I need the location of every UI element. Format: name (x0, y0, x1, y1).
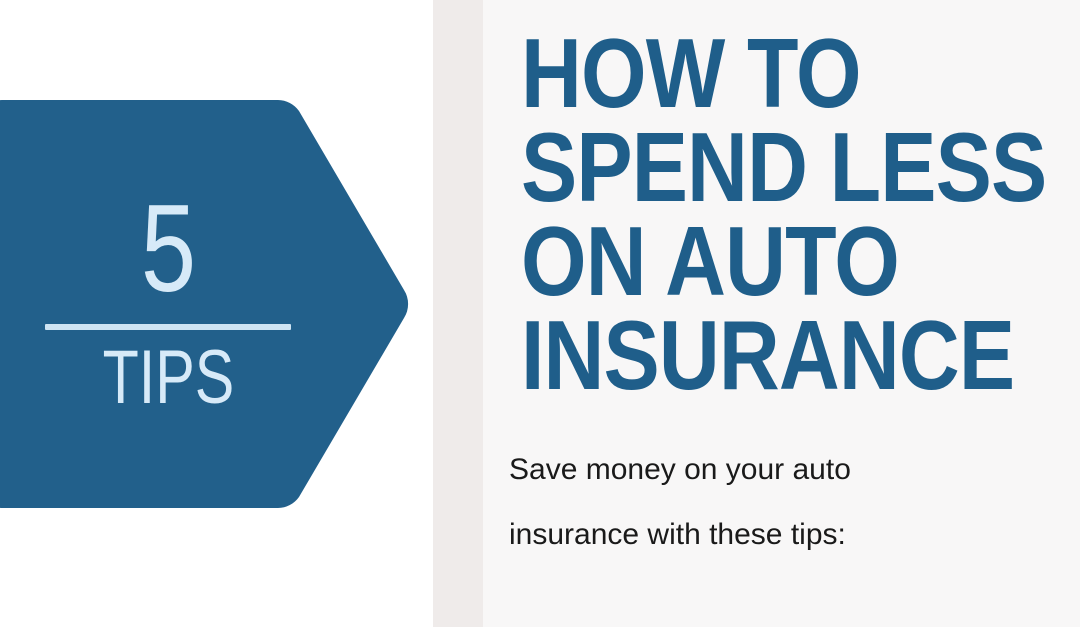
infographic-canvas: 5 TIPS HOW TO SPEND LESS ON AUTO INSURAN… (0, 0, 1080, 627)
headline-line-3: ON AUTO (521, 214, 882, 308)
headline-line-1: HOW TO (521, 26, 882, 120)
headline-line-4: INSURANCE (521, 308, 882, 402)
vertical-divider-strip (433, 0, 483, 627)
tips-arrow-banner (0, 100, 412, 508)
headline-line-2: SPEND LESS (521, 120, 882, 214)
subtitle-line-1: Save money on your auto (509, 437, 939, 502)
subtitle-line-2: insurance with these tips: (509, 502, 939, 567)
page-subtitle: Save money on your auto insurance with t… (509, 437, 939, 567)
arrow-shape-path (0, 100, 408, 508)
page-title: HOW TO SPEND LESS ON AUTO INSURANCE (521, 26, 941, 402)
